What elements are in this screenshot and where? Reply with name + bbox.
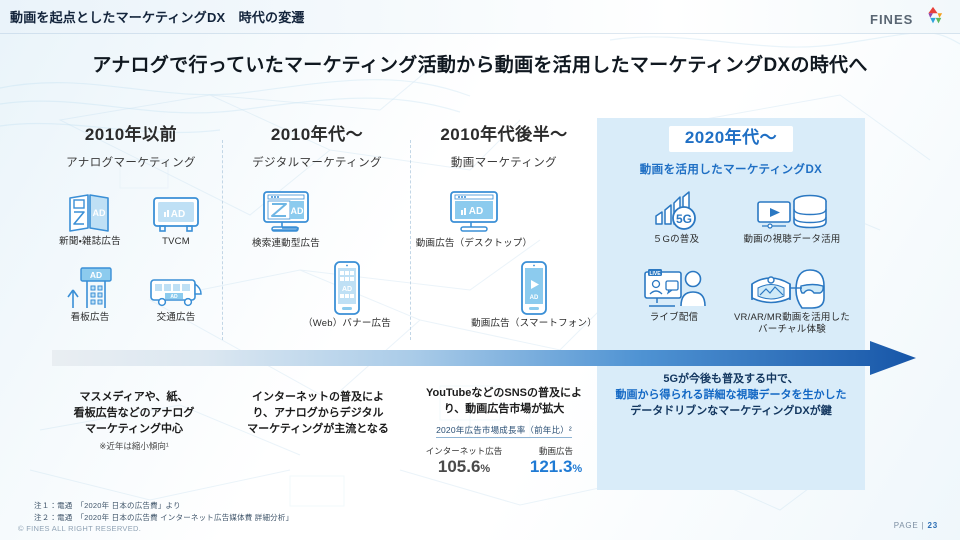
icon-cell-search-listing-ad: AD 検索連動型広告 — [234, 190, 338, 250]
description-pre-2010: マスメディアや、紙、 看板広告などのアナログ マーケティング中心 ※近年は縮小傾… — [46, 390, 222, 452]
desc-line: り、アナログからデジタル — [230, 406, 406, 422]
desc-line: 5Gが今後も普及する中で、 — [600, 372, 862, 388]
desc-line: YouTubeなどのSNSの普及によ — [412, 386, 596, 402]
icon-caption: VR/AR/MR動画を活用した バーチャル体験 — [726, 312, 858, 336]
icon-cell-transit-ad: AD 交通広告 — [132, 276, 220, 324]
icon-caption: TVCM — [134, 236, 218, 248]
description-2020s: 5Gが今後も普及する中で、 動画から得られる詳細な視聴データを生かした データド… — [600, 372, 862, 420]
column-2010s: 2010年代〜 デジタルマーケティング — [228, 126, 406, 170]
footnote-2: 注２：電通 「2020年 日本の広告費 インターネット広告媒体費 詳細分析」 — [34, 512, 293, 524]
icon-caption: 動画広告（デスクトップ） — [412, 238, 536, 250]
web-banner-ad-icon: AD — [330, 260, 364, 316]
desc-note: ※近年は縮小傾向¹ — [46, 440, 222, 452]
column-subtitle: デジタルマーケティング — [228, 154, 406, 170]
desc-line: マーケティング中心 — [46, 422, 222, 438]
svg-text:AD: AD — [93, 208, 106, 218]
stat-label: 動画広告 — [530, 445, 582, 457]
page-title: アナログで行っていたマーケティング活動から動画を活用したマーケティングDXの時代… — [0, 50, 960, 77]
transit-ad-icon: AD — [147, 276, 205, 310]
desc-line: 看板広告などのアナログ — [46, 406, 222, 422]
svg-text:5G: 5G — [676, 212, 692, 226]
icon-cell-live-streaming: LIVE ライブ配信 — [618, 266, 730, 324]
icon-cell-video-ad-smartphone: AD 動画広告（スマートフォン） — [470, 260, 598, 330]
5g-adoption-icon: 5G — [650, 190, 702, 232]
stat-internet-ad: インターネット広告 105.6% — [426, 445, 503, 477]
icon-caption: （Web）バナー広告 — [290, 318, 404, 330]
live-streaming-icon: LIVE — [641, 266, 707, 310]
svg-text:AD: AD — [171, 209, 185, 220]
column-divider-1 — [222, 140, 223, 340]
description-2010s: インターネットの普及によ り、アナログからデジタル マーケティングが主流となる — [230, 390, 406, 438]
market-growth-title: 2020年広告市場成長率（前年比）² — [436, 424, 572, 438]
column-era-label: 2020年代〜 — [669, 126, 793, 152]
icon-caption: 検索連動型広告 — [234, 238, 338, 250]
newspaper-magazine-ad-icon: AD — [66, 192, 114, 234]
icon-cell-video-ad-desktop: AD 動画広告（デスクトップ） — [412, 190, 536, 250]
icon-caption: 動画広告（スマートフォン） — [470, 318, 598, 330]
svg-text:AD: AD — [530, 295, 539, 301]
icon-caption: ５Gの普及 — [622, 234, 730, 246]
billboard-ad-icon: AD — [61, 266, 119, 310]
video-ad-smartphone-icon: AD — [517, 260, 551, 316]
icon-cell-vr-ar-mr: VR/AR/MR動画を活用した バーチャル体験 — [726, 266, 858, 336]
footnote-1: 注１：電通 「2020年 日本の広告費」より — [34, 500, 293, 512]
header-bar: 動画を起点としたマーケティングDX 時代の変遷 FINES — [0, 0, 960, 34]
icon-caption: 看板広告 — [46, 312, 134, 324]
desc-line: マーケティングが主流となる — [230, 422, 406, 438]
market-growth-stats: インターネット広告 105.6% 動画広告 121.3% — [412, 445, 596, 477]
search-listing-ad-icon: AD — [258, 190, 314, 236]
header-title: 動画を起点としたマーケティングDX 時代の変遷 — [10, 7, 305, 26]
column-late-2010s: 2010年代後半〜 動画マーケティング — [414, 126, 594, 170]
icon-caption: 新聞・雑誌広告 — [48, 236, 132, 248]
copyright-text: © FINES ALL RIGHT RESERVED. — [18, 524, 141, 533]
stat-value: 105.6% — [426, 457, 503, 477]
svg-text:AD: AD — [469, 206, 483, 217]
svg-text:LIVE: LIVE — [649, 271, 661, 277]
desc-line: マスメディアや、紙、 — [46, 390, 222, 406]
icon-caption: 動画の視聴データ活用 — [730, 234, 854, 246]
logo-text: FINES — [870, 12, 913, 27]
icon-cell-newspaper-magazine-ad: AD 新聞・雑誌広告 — [48, 192, 132, 248]
icon-cell-tv-commercial: AD TVCM — [134, 194, 218, 248]
icon-cell-billboard-ad: AD 看板広告 — [46, 266, 134, 324]
column-subtitle: 動画マーケティング — [414, 154, 594, 170]
column-subtitle: アナログマーケティング — [40, 154, 222, 170]
column-era-label: 2010年以前 — [40, 126, 222, 145]
page-label: PAGE | — [894, 521, 925, 530]
column-pre-2010: 2010年以前 アナログマーケティング — [40, 126, 222, 170]
slide-root: 動画を起点としたマーケティングDX 時代の変遷 FINES アナログで行っていた… — [0, 0, 960, 540]
column-divider-2 — [410, 140, 411, 340]
stat-value: 121.3% — [530, 457, 582, 477]
icon-cell-video-viewing-data: 動画の視聴データ活用 — [730, 192, 854, 246]
logo-mark-icon — [922, 5, 944, 27]
icon-group-pre-2010: AD 新聞・雑誌広告 AD TVCM AD — [40, 192, 222, 342]
svg-text:AD: AD — [342, 286, 352, 293]
icon-group-late-2010s: AD 動画広告（デスクトップ） AD 動画広告（スマートフォン） — [412, 190, 596, 342]
brand-logo: FINES — [870, 8, 942, 30]
video-viewing-data-icon — [756, 192, 828, 232]
svg-text:AD: AD — [170, 294, 178, 300]
tv-commercial-icon: AD — [150, 194, 202, 234]
icon-group-2010s: AD 検索連動型広告 AD （Web）バナー広告 — [228, 190, 406, 342]
footnotes: 注１：電通 「2020年 日本の広告費」より 注２：電通 「2020年 日本の広… — [34, 500, 293, 523]
desc-line: り、動画広告市場が拡大 — [412, 402, 596, 418]
stat-video-ad: 動画広告 121.3% — [530, 445, 582, 477]
desc-line: インターネットの普及によ — [230, 390, 406, 406]
svg-text:AD: AD — [291, 206, 304, 216]
icon-caption: ライブ配信 — [618, 312, 730, 324]
icon-caption: 交通広告 — [132, 312, 220, 324]
column-era-label: 2010年代後半〜 — [414, 126, 594, 145]
icon-cell-web-banner-ad: AD （Web）バナー広告 — [290, 260, 404, 330]
column-era-label: 2010年代〜 — [228, 126, 406, 145]
desc-line: 動画から得られる詳細な視聴データを生かした — [600, 388, 862, 404]
stat-label: インターネット広告 — [426, 445, 503, 457]
page-number-value: 23 — [928, 521, 939, 530]
vr-ar-mr-icon — [744, 266, 840, 310]
column-2020s: 2020年代〜 動画を活用したマーケティングDX — [600, 126, 862, 177]
svg-text:AD: AD — [90, 270, 102, 280]
timeline-arrow — [50, 340, 918, 376]
column-subtitle: 動画を活用したマーケティングDX — [600, 161, 862, 177]
page-number: PAGE | 23 — [894, 521, 938, 530]
icon-group-2020s: 5G ５Gの普及 動画の視聴データ活用 LIVE — [600, 190, 862, 340]
desc-line: データドリブンなマーケティングDXが鍵 — [600, 404, 862, 420]
icon-cell-5g-adoption: 5G ５Gの普及 — [622, 190, 730, 246]
description-late-2010s: YouTubeなどのSNSの普及によ り、動画広告市場が拡大 2020年広告市場… — [412, 386, 596, 477]
video-ad-desktop-icon: AD — [445, 190, 503, 236]
